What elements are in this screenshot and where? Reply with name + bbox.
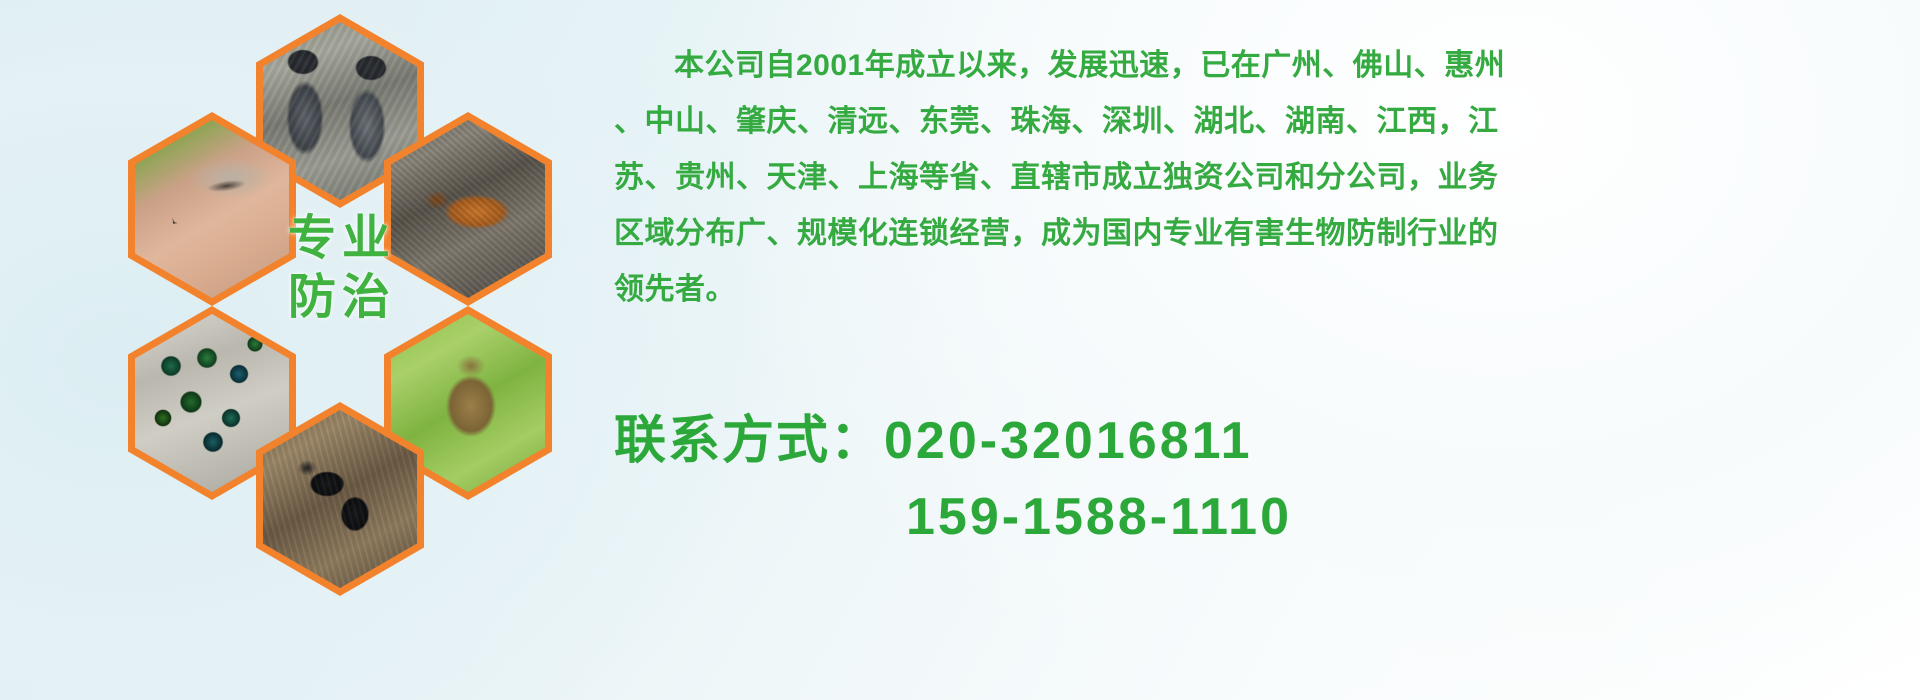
about-line: 领先者。 [614, 262, 1914, 318]
about-line: 苏、贵州、天津、上海等省、直辖市成立独资公司和分公司，业务 [614, 150, 1914, 206]
hex-cell-inner [391, 120, 545, 298]
badge-line-2: 防治 [274, 269, 410, 328]
phone-secondary[interactable]: 159-1588-1110 [614, 487, 1894, 547]
hex-cell-inner [135, 120, 289, 298]
mosquito-photo [135, 120, 289, 298]
badge-line-1: 专业 [288, 212, 396, 265]
about-line: 本公司自2001年成立以来，发展迅速，已在广州、佛山、惠州 [614, 38, 1914, 94]
badge-text: 专业 防治 [274, 210, 410, 327]
phone-primary[interactable]: 020-32016811 [884, 412, 1253, 470]
cockroach-photo [391, 120, 545, 298]
about-line: 区域分布广、规模化连锁经营，成为国内专业有害生物防制行业的 [614, 206, 1914, 262]
ant-photo [263, 410, 417, 588]
contact-block: 联系方式：020-32016811 159-1588-1110 [614, 398, 1894, 547]
about-line: 、中山、肇庆、清远、东莞、珠海、深圳、湖北、湖南、江西，江 [614, 94, 1914, 150]
hexagon-photo-cluster: 专业 防治 [88, 14, 588, 574]
about-paragraph: 本公司自2001年成立以来，发展迅速，已在广州、佛山、惠州 、中山、肇庆、清远、… [614, 38, 1914, 318]
contact-label: 联系方式： [614, 412, 884, 470]
promo-banner: 专业 防治 本公司自2001年成立以来，发展迅速，已在广州、佛山、惠州 、中山、… [0, 0, 1920, 700]
hex-cell-inner [263, 410, 417, 588]
contact-primary-line: 联系方式：020-32016811 [614, 398, 1894, 473]
